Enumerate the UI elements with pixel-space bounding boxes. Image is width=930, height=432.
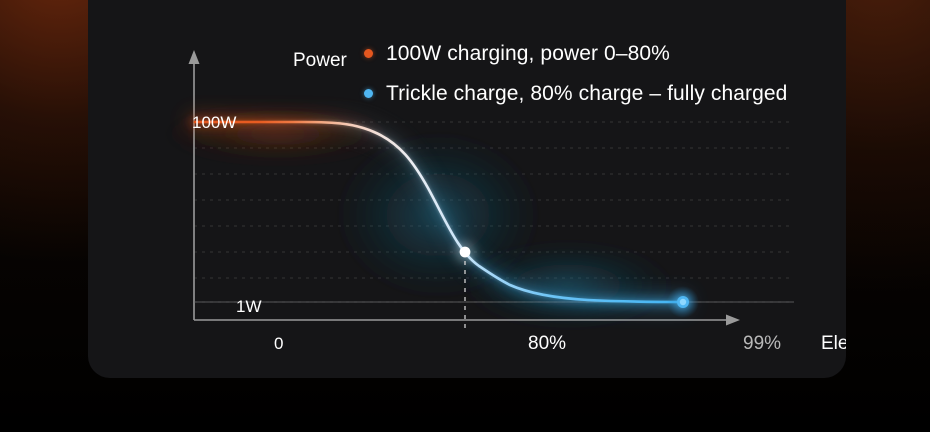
y-tick-100w: 100W (192, 113, 236, 133)
legend-dot-icon-blue (364, 89, 373, 98)
chart-card: 100W 1W Power Electricity 0 80% 99% 100W… (88, 0, 846, 378)
legend-label-trickle-charge: Trickle charge, 80% charge – fully charg… (386, 82, 787, 106)
legend-item-100w-charging: 100W charging, power 0–80% (364, 38, 834, 69)
tail-haze (458, 243, 678, 327)
legend-label-100w-charging: 100W charging, power 0–80% (386, 42, 670, 66)
end-point-highlight (680, 299, 686, 305)
y-axis-arrow (189, 50, 200, 64)
x-axis-arrow (726, 315, 740, 326)
x-tick-0: 0 (274, 334, 283, 354)
charging-power-chart: 100W 1W Power Electricity 0 80% 99% 100W… (88, 0, 846, 378)
x-tick-80: 80% (528, 333, 566, 355)
x-tick-99: 99% (743, 333, 781, 355)
y-tick-1w: 1W (236, 297, 262, 317)
chart-legend: 100W charging, power 0–80% Trickle charg… (364, 38, 834, 118)
page-background: 100W 1W Power Electricity 0 80% 99% 100W… (0, 0, 930, 432)
y-axis-title: Power (293, 50, 347, 72)
legend-dot-icon-orange (364, 49, 373, 58)
x-axis-title: Electricity (821, 333, 846, 355)
knee-point-marker (460, 247, 471, 258)
legend-item-trickle-charge: Trickle charge, 80% charge – fully charg… (364, 78, 834, 109)
chart-card-inner: 100W 1W Power Electricity 0 80% 99% 100W… (88, 0, 846, 378)
